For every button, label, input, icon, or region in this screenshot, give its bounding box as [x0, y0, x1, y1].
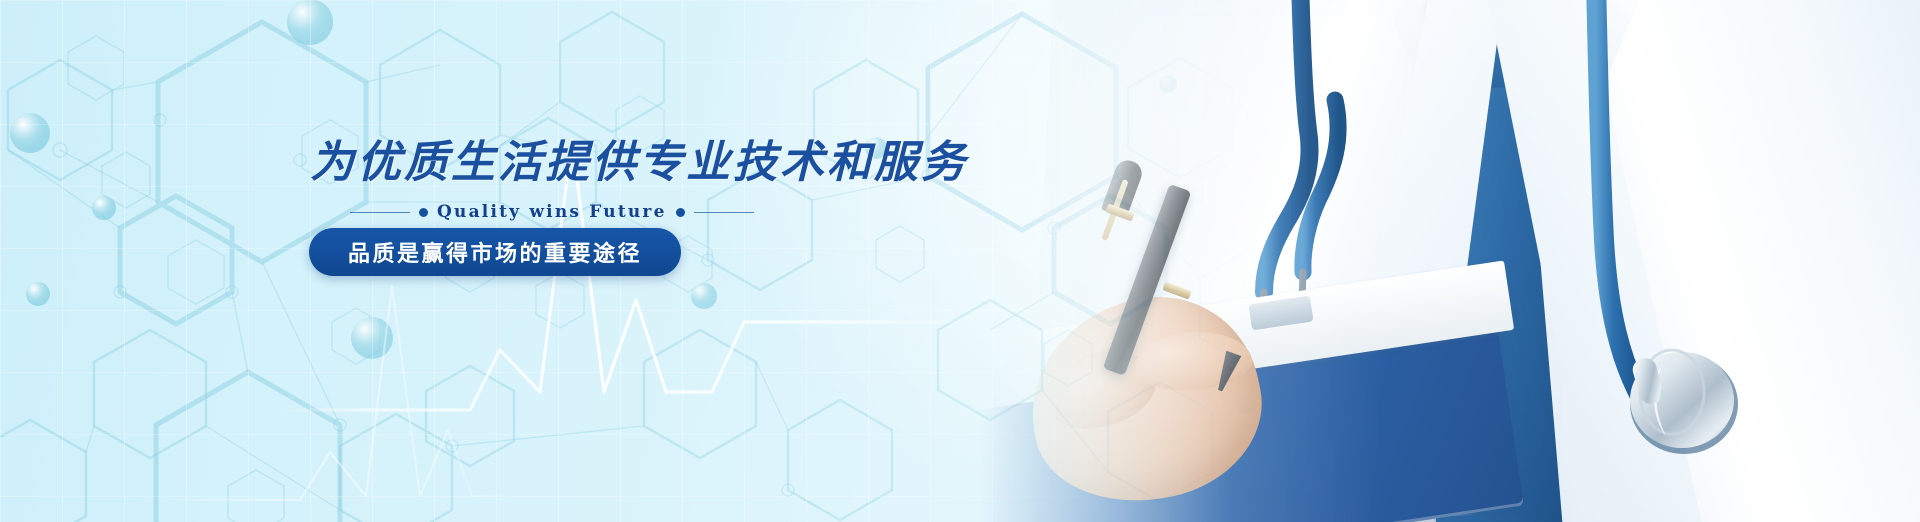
- tagline-rule-left: [350, 212, 410, 213]
- banner-text-block: 为优质生活提供专业技术和服务 Quality wins Future 品质是赢得…: [0, 0, 1000, 522]
- tagline-dot-left: [419, 208, 428, 217]
- tagline-dot-right: [676, 208, 685, 217]
- banner-tagline: Quality wins Future: [437, 202, 667, 222]
- tagline-row: Quality wins Future: [350, 202, 754, 222]
- cta-button-label: 品质是赢得市场的重要途径: [348, 236, 642, 268]
- cta-button[interactable]: 品质是赢得市场的重要途径: [309, 228, 681, 276]
- doctor-photo: [920, 0, 1920, 522]
- medical-hero-banner: 为优质生活提供专业技术和服务 Quality wins Future 品质是赢得…: [0, 0, 1920, 522]
- tagline-rule-right: [694, 212, 754, 213]
- banner-headline: 为优质生活提供专业技术和服务: [310, 126, 968, 190]
